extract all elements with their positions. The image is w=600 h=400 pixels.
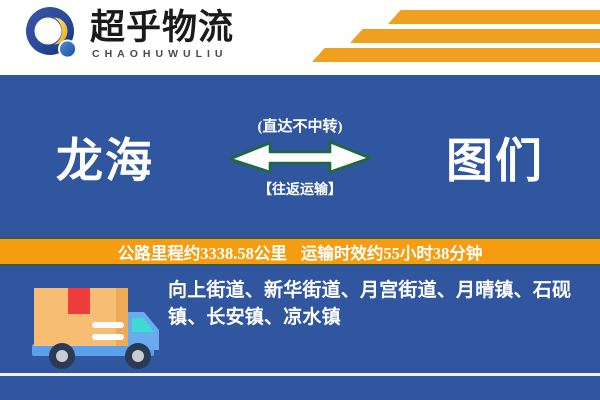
route-arrow-block: (直达不中转) 【往返运输】 — [210, 115, 390, 199]
header: 超乎物流 CHAOHUWULIU — [0, 0, 600, 75]
coverage-areas-text: 向上街道、新华街道、月宫街道、月晴镇、石砚镇、长安镇、凉水镇 — [168, 278, 584, 332]
brand-name-pinyin: CHAOHUWULIU — [92, 48, 234, 60]
duration-value: 运输时效约55小时38分钟 — [301, 244, 483, 263]
route-row: 龙海 (直达不中转) 【往返运输】 图们 — [0, 75, 600, 237]
distance-value: 公路里程约3338.58公里 — [118, 244, 287, 263]
round-trip-label: 【往返运输】 — [258, 179, 342, 199]
delivery-truck-icon — [28, 278, 168, 376]
brand-text-block: 超乎物流 CHAOHUWULIU — [90, 10, 234, 60]
stripe-top — [388, 10, 600, 24]
logistics-route-banner: 超乎物流 CHAOHUWULIU 龙海 (直达不中转) 【往返运输】 — [0, 0, 600, 400]
brand-name-cn: 超乎物流 — [90, 10, 234, 46]
route-panel: 龙海 (直达不中转) 【往返运输】 图们 — [0, 75, 600, 237]
double-headed-arrow-icon — [226, 137, 374, 177]
route-info-bar: 公路里程约3338.58公里运输时效约55小时38分钟 — [0, 237, 600, 266]
stripe-bottom — [312, 48, 600, 62]
bottom-divider — [0, 373, 600, 376]
destination-city: 图们 — [390, 122, 600, 191]
direct-shipping-label: (直达不中转) — [258, 115, 343, 136]
info-bar-text: 公路里程约3338.58公里运输时效约55小时38分钟 — [118, 240, 483, 264]
orange-speed-stripes-icon — [290, 8, 600, 68]
brand-logo-block[interactable]: 超乎物流 CHAOHUWULIU — [22, 4, 234, 66]
circle-q-logo-icon — [22, 4, 84, 66]
origin-city: 龙海 — [0, 122, 210, 191]
stripe-middle — [350, 29, 600, 43]
coverage-panel: 向上街道、新华街道、月宫街道、月晴镇、石砚镇、长安镇、凉水镇 — [0, 266, 600, 400]
